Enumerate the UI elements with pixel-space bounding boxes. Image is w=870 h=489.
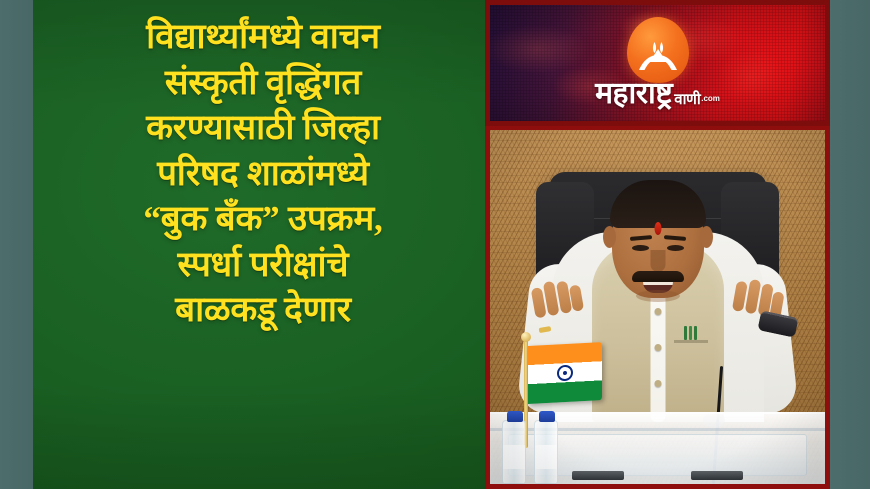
headline-panel: विद्यार्थ्यांमध्ये वाचन संस्कृती वृद्धिं… [33,0,485,489]
logo-name-sub: वाणी [674,92,700,108]
water-bottle [502,420,526,484]
trident-flame-emblem-icon [630,39,686,73]
news-card: विद्यार्थ्यांमध्ये वाचन संस्कृती वृद्धिं… [0,0,870,489]
subject-chin [636,290,680,302]
subject-nose [650,250,665,272]
ashoka-chakra-icon [557,365,573,382]
right-edge-band [830,0,870,489]
subject-eye-right [667,245,684,251]
headline-line-4: परिषद शाळांमध्ये [51,151,475,197]
gold-ring [539,326,552,333]
indian-flag-icon [528,342,602,404]
jacket-button [654,380,661,387]
jacket-button [654,344,661,351]
desk-nameplate [691,471,743,480]
maharashtra-vani-logo: महाराष्ट्रवाणी.com [583,15,733,111]
jacket-button [654,308,661,315]
headline-line-3: करण्यासाठी जिल्हा [51,105,475,151]
media-column: महाराष्ट्रवाणी.com [485,0,830,489]
left-edge-band [0,0,33,489]
headline-text: विद्यार्थ्यांमध्ये वाचन संस्कृती वृद्धिं… [33,0,485,333]
desk-nameplate [572,471,624,480]
subject-eye-left [632,245,649,251]
pocket-pens [684,326,700,342]
logo-name-main: महाराष्ट्र [595,77,672,110]
headline-line-6: स्पर्धा परीक्षांचे [51,242,475,288]
headline-line-7: बाळकडू देणार [51,287,475,333]
subject-ear-left [603,226,616,248]
logo-wordmark: महाराष्ट्रवाणी.com [583,79,733,109]
headline-line-1: विद्यार्थ्यांमध्ये वाचन [51,14,475,60]
water-bottle [534,420,558,484]
logo-tld: .com [701,94,720,103]
forehead-tilak [654,222,661,235]
brand-banner: महाराष्ट्रवाणी.com [485,0,830,126]
subject-ear-right [700,226,713,248]
headline-line-5: “बुक बँक” उपक्रम, [51,196,475,242]
news-photo [485,126,830,489]
headline-line-2: संस्कृती वृद्धिंगत [51,60,475,106]
subject-mustache [632,271,684,282]
